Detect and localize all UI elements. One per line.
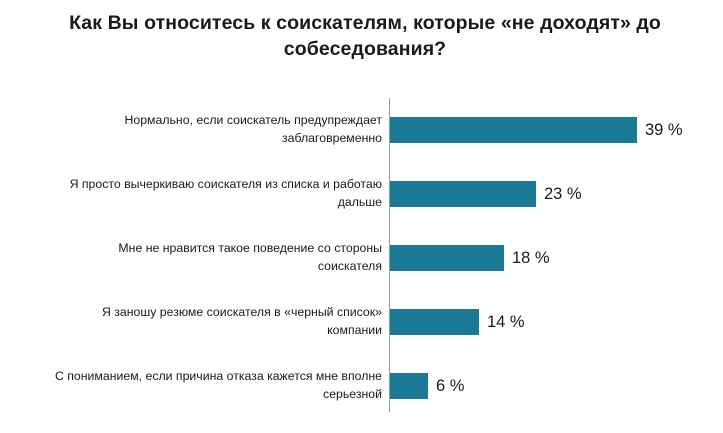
bar-value-label: 39 % (645, 121, 683, 140)
bar-row: Мне не нравится такое поведение со сторо… (0, 226, 723, 290)
bar (390, 309, 479, 335)
bar-row: С пониманием, если причина отказа кажетс… (0, 354, 723, 418)
bar-value-label: 14 % (487, 313, 525, 332)
bar-value-label: 18 % (512, 249, 550, 268)
bar (390, 373, 428, 399)
bar-row: Я просто вычеркиваю соискателя из списка… (0, 162, 723, 226)
bar-group: 23 % (390, 181, 582, 207)
plot-area: Нормально, если соискатель предупреждает… (0, 98, 723, 418)
category-label: Я заношу резюме соискателя в «черный спи… (52, 304, 382, 340)
bar-group: 6 % (390, 373, 464, 399)
bar-group: 39 % (390, 117, 683, 143)
bar-row: Я заношу резюме соискателя в «черный спи… (0, 290, 723, 354)
chart-container: Как Вы относитесь к соискателям, которые… (0, 0, 723, 433)
category-label: Мне не нравится такое поведение со сторо… (52, 240, 382, 276)
bar (390, 117, 637, 143)
bar-value-label: 23 % (544, 185, 582, 204)
bar-row: Нормально, если соискатель предупреждает… (0, 98, 723, 162)
bar-group: 18 % (390, 245, 550, 271)
category-label: Я просто вычеркиваю соискателя из списка… (52, 176, 382, 212)
category-label: С пониманием, если причина отказа кажетс… (52, 368, 382, 404)
bar (390, 245, 504, 271)
category-label: Нормально, если соискатель предупреждает… (52, 112, 382, 148)
chart-title: Как Вы относитесь к соискателям, которые… (60, 10, 670, 63)
bar (390, 181, 536, 207)
bar-value-label: 6 % (436, 377, 464, 396)
bar-group: 14 % (390, 309, 525, 335)
